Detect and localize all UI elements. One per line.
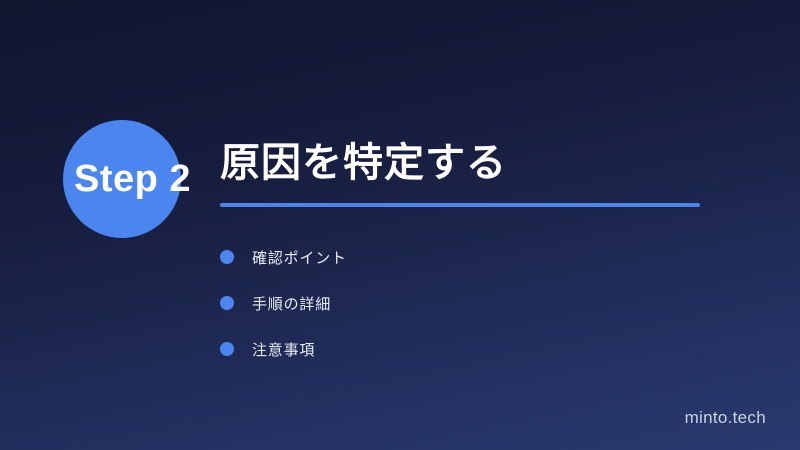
- list-item-label: 注意事項: [252, 339, 315, 360]
- slide-canvas: Step 2 原因を特定する 確認ポイント 手順の詳細 注意事項 minto.t…: [0, 0, 800, 450]
- list-item-label: 確認ポイント: [252, 247, 347, 268]
- step-badge: Step 2: [45, 120, 220, 240]
- slide-title: 原因を特定する: [220, 140, 720, 187]
- bullet-dot-icon: [220, 342, 234, 356]
- list-item: 注意事項: [220, 326, 680, 372]
- title-block: 原因を特定する: [220, 140, 720, 207]
- bullet-dot-icon: [220, 250, 234, 264]
- title-divider: [220, 203, 700, 207]
- list-item-label: 手順の詳細: [252, 293, 331, 314]
- bullet-list: 確認ポイント 手順の詳細 注意事項: [220, 234, 680, 372]
- bullet-dot-icon: [220, 296, 234, 310]
- step-label: Step 2: [45, 120, 220, 238]
- list-item: 手順の詳細: [220, 280, 680, 326]
- footer-brand: minto.tech: [685, 408, 766, 428]
- list-item: 確認ポイント: [220, 234, 680, 280]
